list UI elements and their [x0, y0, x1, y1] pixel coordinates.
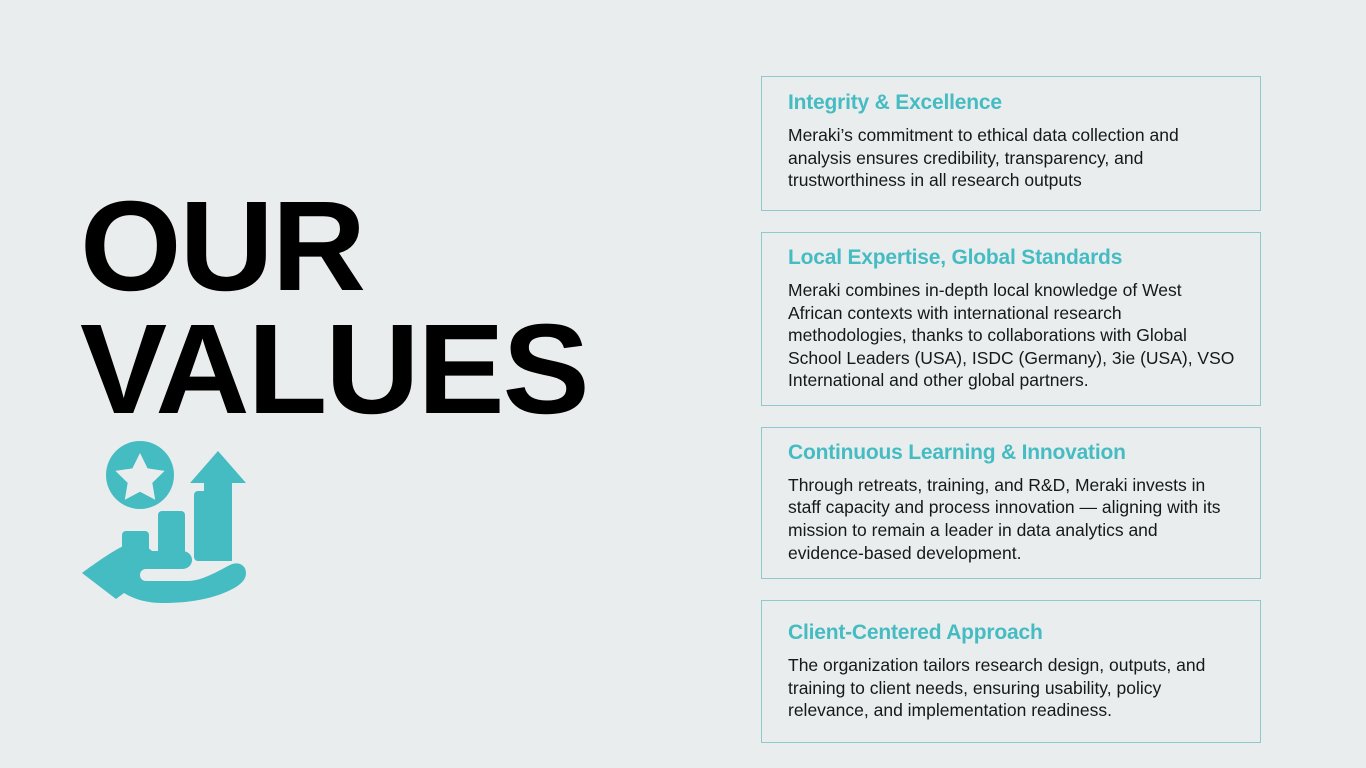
value-card-continuous-learning-innovation: Continuous Learning & Innovation Through… [761, 427, 1261, 579]
card-heading: Integrity & Excellence [788, 91, 1236, 115]
value-card-integrity-excellence: Integrity & Excellence Meraki’s commitme… [761, 76, 1261, 211]
value-card-local-expertise-global-standards: Local Expertise, Global Standards Meraki… [761, 232, 1261, 406]
slide-our-values: OUR VALUES [0, 0, 1366, 768]
values-card-list: Integrity & Excellence Meraki’s commitme… [761, 76, 1261, 743]
hand-holding-growth-chart-star-icon [76, 437, 248, 605]
value-card-client-centered-approach: Client-Centered Approach The organizatio… [761, 600, 1261, 743]
page-title: OUR VALUES [80, 186, 651, 432]
card-heading: Local Expertise, Global Standards [788, 246, 1236, 270]
card-body: Meraki combines in-depth local knowledge… [788, 279, 1236, 392]
star-badge-icon [106, 441, 174, 509]
card-heading: Client-Centered Approach [788, 621, 1236, 645]
card-body: Through retreats, training, and R&D, Mer… [788, 474, 1236, 564]
card-body: Meraki’s commitment to ethical data coll… [788, 124, 1236, 192]
left-panel: OUR VALUES [0, 0, 700, 768]
card-heading: Continuous Learning & Innovation [788, 441, 1236, 465]
card-body: The organization tailors research design… [788, 654, 1236, 722]
